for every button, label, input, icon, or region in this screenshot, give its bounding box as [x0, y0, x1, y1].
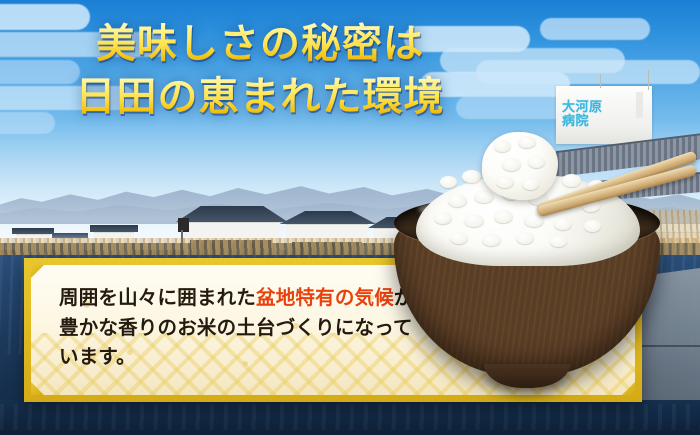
panel-corner-top-left — [31, 265, 44, 278]
rice-bowl-photo — [378, 132, 678, 422]
hospital-antenna-2 — [648, 70, 649, 90]
hospital-sign: 大河原 病院 — [562, 95, 632, 135]
body-highlight-1: 盆地特有の — [256, 286, 355, 309]
headline-line-1: 美味しさの秘密は — [0, 22, 520, 65]
hospital-chimney — [636, 92, 643, 118]
promo-banner: 大河原 病院 美味しさの秘密は 日田の恵まれた環境 周囲を山々に囲まれた盆地特有… — [0, 0, 700, 435]
hospital-sign-line2: 病院 — [562, 115, 632, 129]
headline-line-2: 日田の恵まれた環境 — [0, 75, 520, 118]
bowl-foot — [484, 364, 570, 388]
hospital-sign-line1: 大河原 — [562, 101, 632, 115]
body-text: 周囲を山々に囲まれた盆地特有の気候が豊かな香りのお米の土台づくりになっています。 — [59, 283, 419, 372]
hospital-antenna — [600, 74, 601, 88]
headline: 美味しさの秘密は 日田の恵まれた環境 — [0, 22, 520, 118]
body-segment-1: 周囲を山々に囲まれた — [59, 286, 256, 309]
